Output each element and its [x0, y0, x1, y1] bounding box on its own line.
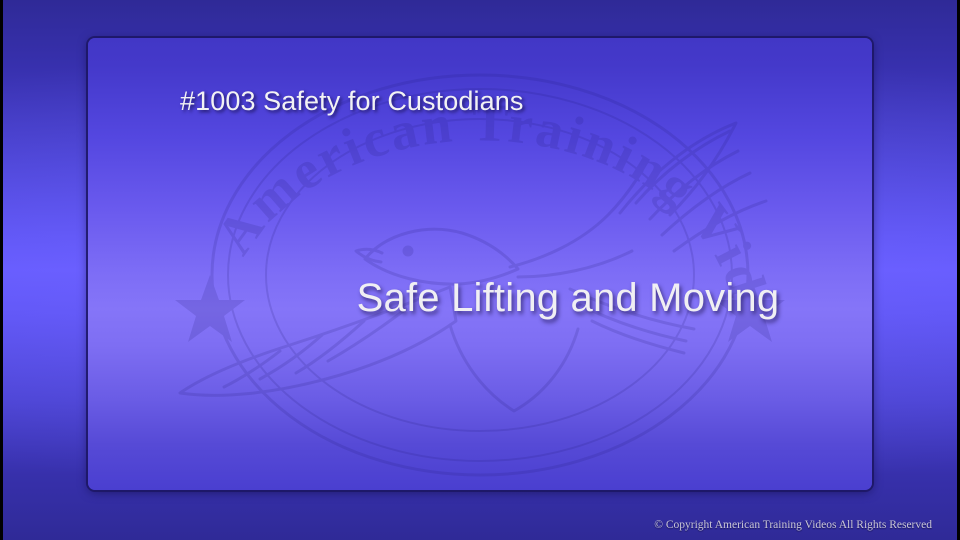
page-title: #1003 Safety for Custodians — [180, 86, 523, 117]
letterbox-bar-left — [0, 0, 3, 540]
american-training-videos-seal-watermark: American Training Videos, Inc. — [150, 63, 810, 483]
video-slide: American Training Videos, Inc. — [0, 0, 960, 540]
slide-headline: Safe Lifting and Moving — [176, 276, 872, 321]
copyright-notice: © Copyright American Training Videos All… — [654, 519, 932, 531]
content-panel: American Training Videos, Inc. — [88, 38, 872, 490]
